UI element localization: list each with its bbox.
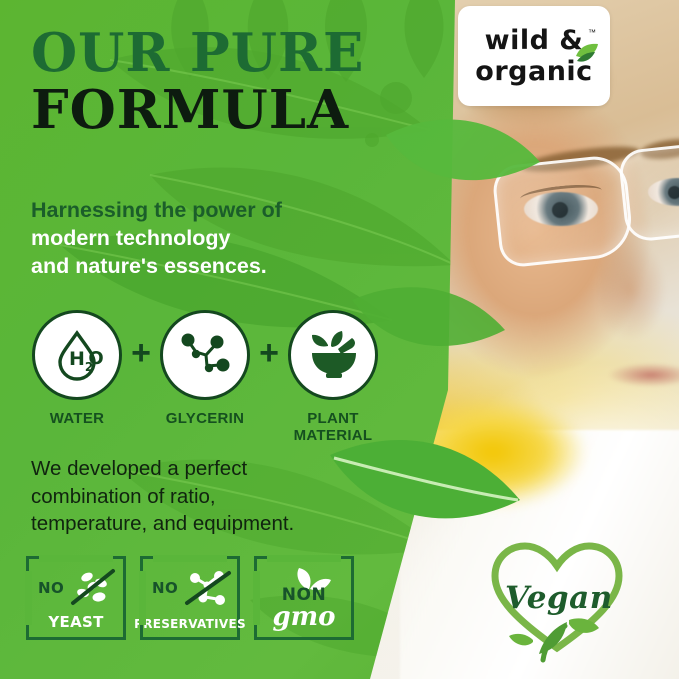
body-paragraph: We developed a perfect combination of ra… xyxy=(31,455,381,538)
body-line-1: We developed a perfect xyxy=(31,455,381,483)
plus-separator-1: + xyxy=(126,336,156,370)
ingredient-label-glycerin: GLYCERIN xyxy=(166,411,245,428)
badge-prefix-no: NO xyxy=(152,579,178,597)
badge-word-yeast: YEAST xyxy=(48,615,103,630)
water-drop-h2o-icon: H 2 O xyxy=(32,310,122,400)
poster-root: wild & organic ™ OUR PURE FORMULA Harnes… xyxy=(0,0,679,679)
subheading-line-3: and nature's essences. xyxy=(31,252,391,280)
subheading-line-1: Harnessing the power of xyxy=(31,196,391,224)
leaf-icon xyxy=(574,42,600,69)
certification-badges: NO YEAST xyxy=(26,556,354,640)
ingredient-label-water: WATER xyxy=(50,411,105,428)
svg-text:H: H xyxy=(69,348,85,370)
body-line-3: temperature, and equipment. xyxy=(31,510,381,538)
vegan-label: Vegan xyxy=(505,580,613,616)
plant-label-line-2: MATERIAL xyxy=(294,427,373,444)
body-line-2: combination of ratio, xyxy=(31,483,381,511)
ingredient-label-plant-material: PLANT MATERIAL xyxy=(294,411,373,445)
brand-logo[interactable]: wild & organic ™ xyxy=(458,6,610,106)
subheading: Harnessing the power of modern technolog… xyxy=(31,196,391,280)
badge-no-preservatives: NO PRESERVATIVES xyxy=(140,556,240,640)
badge-prefix-no: NO xyxy=(38,579,64,597)
headline-line-1: OUR PURE xyxy=(31,28,431,80)
page-title: OUR PURE FORMULA xyxy=(31,28,431,137)
badge-no-yeast: NO YEAST xyxy=(26,556,126,640)
headline-line-2: FORMULA xyxy=(31,84,431,137)
svg-text:O: O xyxy=(88,348,103,369)
trademark-symbol: ™ xyxy=(588,28,596,37)
ingredient-plant-material: PLANT MATERIAL xyxy=(284,310,382,445)
ingredient-water: H 2 O WATER xyxy=(28,310,126,428)
ingredient-list: H 2 O WATER + xyxy=(28,310,388,445)
badge-non-gmo: NON gmo xyxy=(254,556,354,640)
plus-separator-2: + xyxy=(254,336,284,370)
logo-line-1: wild & xyxy=(485,27,584,54)
vegan-badge: Vegan xyxy=(487,536,627,668)
badge-word-preservatives: PRESERVATIVES xyxy=(134,618,246,630)
molecule-icon xyxy=(160,310,250,400)
ingredient-glycerin: GLYCERIN xyxy=(156,310,254,428)
mortar-and-pestle-icon xyxy=(288,310,378,400)
plant-label-line-1: PLANT xyxy=(307,410,359,427)
badge-prefix-non: NON xyxy=(282,585,326,605)
subheading-line-2: modern technology xyxy=(31,224,391,252)
